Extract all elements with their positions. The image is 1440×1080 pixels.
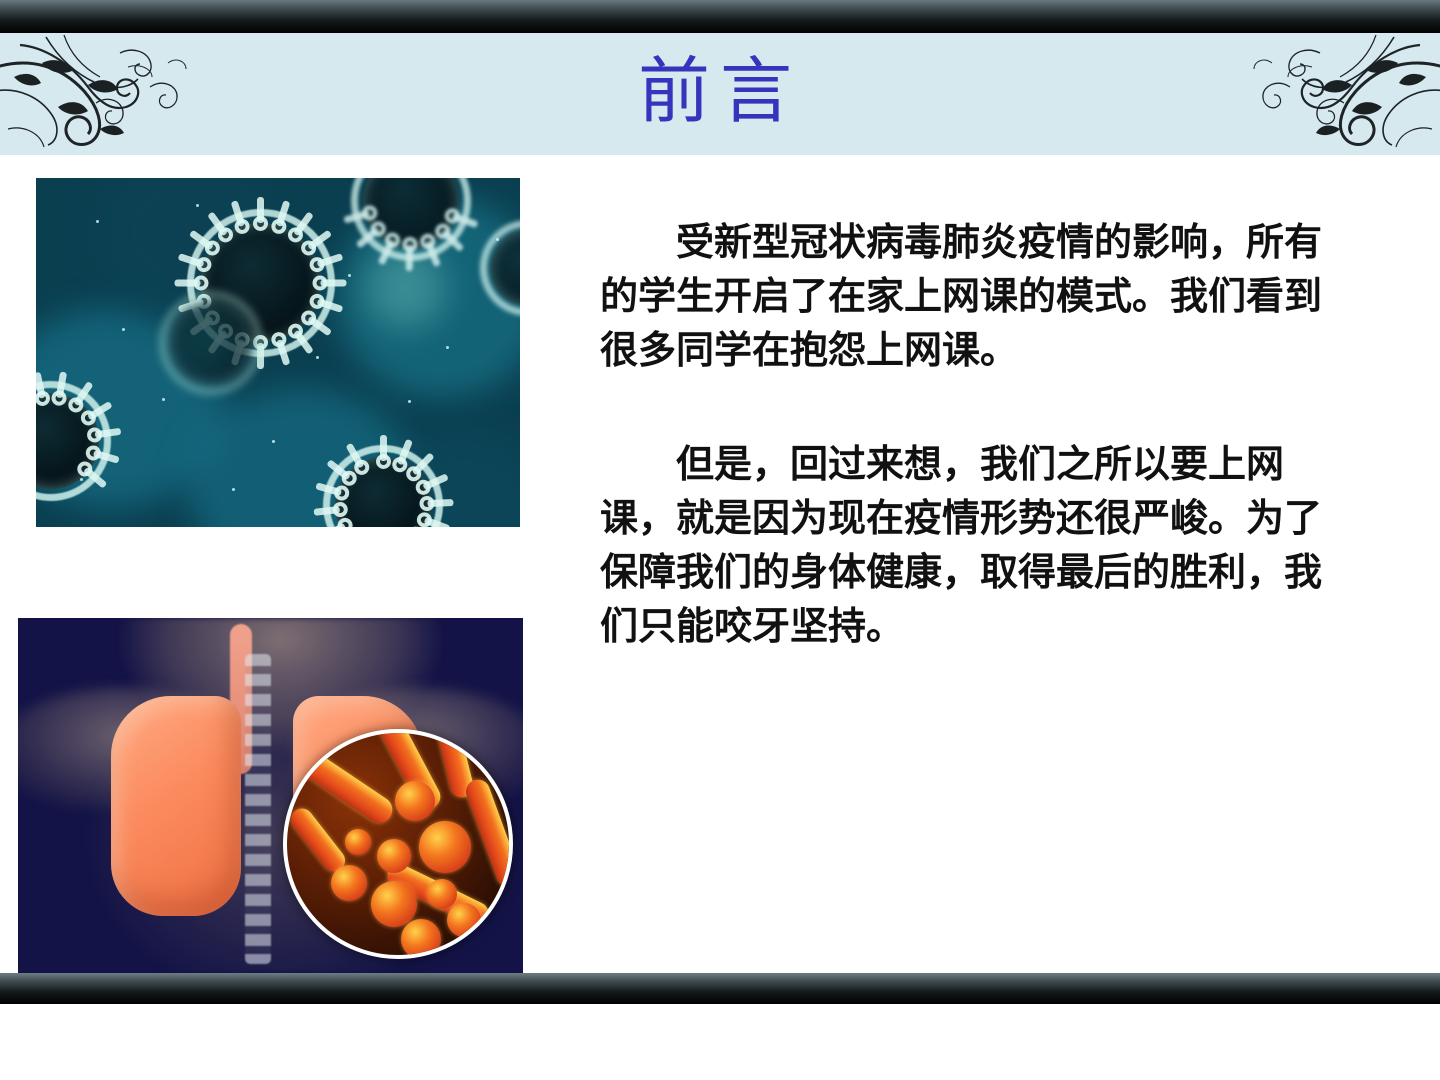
slide-body-text: 受新型冠状病毒肺炎疫情的影响，所有的学生开启了在家上网课的模式。我们看到很多同学…	[600, 215, 1348, 653]
spine	[245, 654, 271, 964]
slide-title: 前言	[0, 33, 1440, 155]
left-lung	[111, 696, 241, 916]
presentation-slide: 前言	[0, 0, 1440, 1080]
lungs-infection-illustration	[18, 618, 523, 973]
top-decorative-bar	[0, 0, 1440, 33]
paragraph-2: 但是，回过来想，我们之所以要上网课，就是因为现在疫情形势还很严峻。为了保障我们的…	[600, 437, 1348, 653]
virus-particle-blurred	[146, 278, 276, 408]
paragraph-1: 受新型冠状病毒肺炎疫情的影响，所有的学生开启了在家上网课的模式。我们看到很多同学…	[600, 215, 1348, 377]
bacteria-magnification-inset	[283, 729, 513, 959]
coronavirus-microscopy-photo	[36, 178, 520, 527]
bottom-decorative-bar	[0, 973, 1440, 1004]
